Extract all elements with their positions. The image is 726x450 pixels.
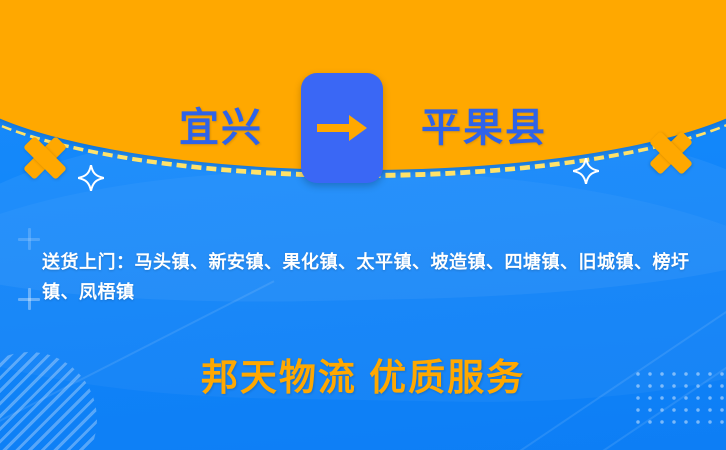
destination-city-label: 平果县 xyxy=(421,108,547,148)
route-arrow-badge xyxy=(301,73,383,183)
origin-city-label: 宜兴 xyxy=(179,108,263,148)
arrow-right-icon xyxy=(315,111,369,145)
route-row: 宜兴 平果县 xyxy=(0,78,726,178)
logistics-route-banner: 宜兴 平果县 送货上门：马头镇、新安镇、果化镇、太平镇、坡造镇、四塘镇、旧城镇、… xyxy=(0,0,726,450)
delivery-notice-text: 送货上门：马头镇、新安镇、果化镇、太平镇、坡造镇、四塘镇、旧城镇、榜圩镇、凤梧镇 xyxy=(42,247,694,307)
plus-icon xyxy=(18,228,40,250)
plus-icon xyxy=(18,288,40,310)
company-slogan: 邦天物流 优质服务 xyxy=(0,358,726,399)
